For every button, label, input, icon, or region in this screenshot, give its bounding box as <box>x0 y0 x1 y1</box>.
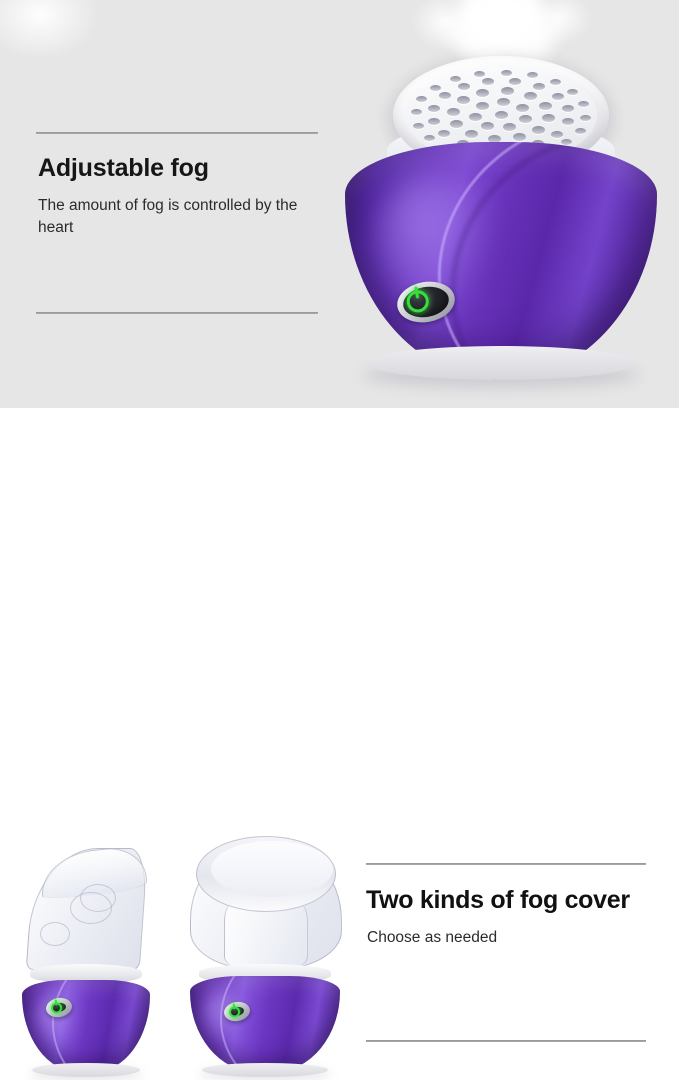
lid-hole <box>552 93 564 100</box>
product-feature-image: Adjustable fog The amount of fog is cont… <box>0 0 679 670</box>
unit-foot <box>32 1063 140 1077</box>
lid-hole <box>481 122 494 130</box>
lid-hole <box>524 92 537 100</box>
lid-hole <box>539 102 552 110</box>
lid-hole <box>428 118 440 125</box>
unit-base <box>190 976 340 1072</box>
face-cone-opening-inner <box>211 841 333 897</box>
adjustable-fog-text-block: Adjustable fog The amount of fog is cont… <box>36 132 318 239</box>
lid-hole <box>513 133 526 141</box>
lid-hole <box>580 115 591 121</box>
unit-base <box>22 980 150 1072</box>
base-foot <box>367 346 635 380</box>
adjustable-fog-description: The amount of fog is controlled by the h… <box>38 195 300 239</box>
section-two-kinds-of-fog-cover: Two kinds of fog cover Choose as needed <box>0 408 679 670</box>
lid-hole <box>465 130 478 138</box>
fog-cover-text-block: Two kinds of fog cover Choose as needed <box>366 863 646 947</box>
divider-bottom <box>366 1040 646 1042</box>
lid-hole <box>457 96 470 104</box>
section-title: Two kinds of fog cover <box>366 887 646 915</box>
lid-hole <box>424 135 435 141</box>
section-adjustable-fog: Adjustable fog The amount of fog is cont… <box>0 0 679 408</box>
lid-hole <box>575 128 586 134</box>
unit-foot <box>202 1063 328 1077</box>
facial-steamer-base <box>323 0 679 408</box>
nose-fog-cover-unit <box>22 848 150 1072</box>
divider-top <box>36 132 318 134</box>
cone-highlight-ring <box>40 922 70 946</box>
face-cone-opening <box>196 836 336 912</box>
face-fog-cover-unit <box>190 840 340 1072</box>
lid-hole <box>476 102 489 110</box>
lid-hole <box>551 131 563 138</box>
steamer-bowl <box>345 142 657 380</box>
lid-hole <box>430 85 441 91</box>
lid-hole <box>458 83 470 90</box>
lid-hole <box>532 126 545 134</box>
cone-highlight-ring <box>80 884 116 912</box>
lid-hole <box>501 70 512 76</box>
lid-hole <box>447 108 460 116</box>
lid-hole <box>428 105 440 112</box>
divider-bottom <box>36 312 318 314</box>
lid-hole <box>469 113 482 121</box>
divider-top <box>366 863 646 865</box>
fog-cover-description: Choose as needed <box>367 929 646 947</box>
steam-wisp-decor <box>0 0 100 60</box>
page-title: Adjustable fog <box>38 155 318 183</box>
lid-hole <box>476 89 489 97</box>
lid-hole <box>495 111 508 119</box>
lid-hole <box>413 123 424 129</box>
lid-hole <box>562 105 574 112</box>
